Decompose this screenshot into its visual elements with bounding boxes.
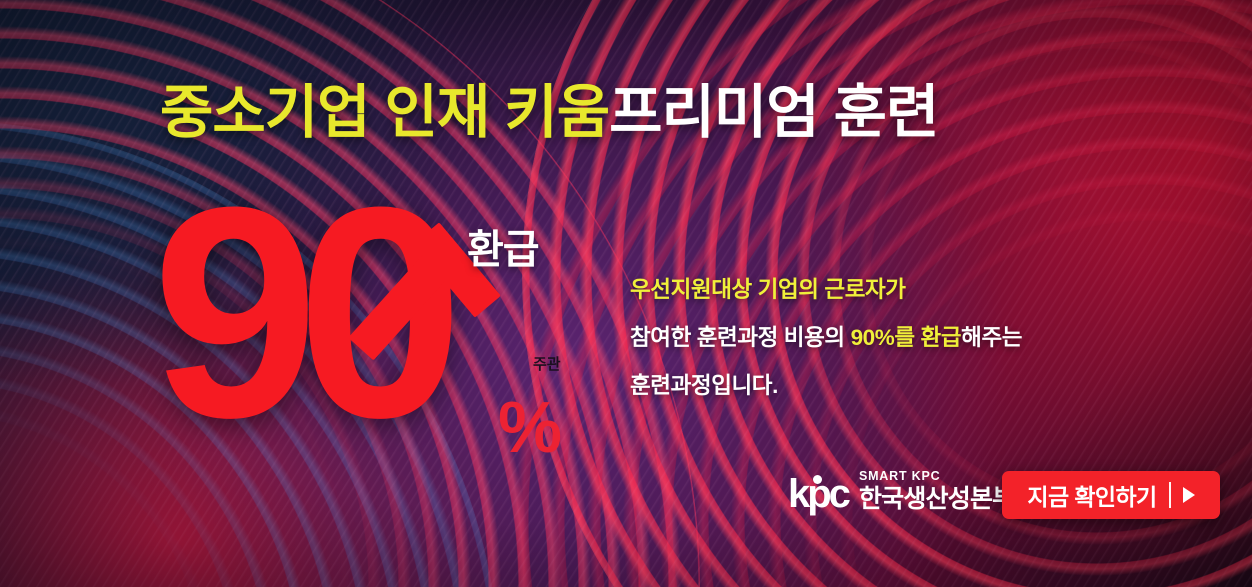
body-line-2: 참여한 훈련과정 비용의 90%를 환급해주는 — [630, 314, 1022, 362]
kpc-logo-text: SMART KPC 한국생산성본부 — [859, 470, 1014, 512]
body-line-1-text: 우선지원대상 기업의 근로자가 — [630, 277, 906, 302]
kpc-wordmark-icon: kpc — [788, 476, 848, 512]
body-line-2-pre: 참여한 훈련과정 비용의 — [630, 325, 851, 350]
body-line-2-accent: 90%를 환급 — [851, 325, 962, 350]
banner-content: 중소기업 인재 키움프리미엄 훈련 90 환급 주관 % 우선지원대상 기업의 … — [0, 0, 1252, 587]
kpc-org-name: 한국생산성본부 — [859, 486, 1014, 512]
play-arrow-icon — [1183, 487, 1195, 503]
body-line-1: 우선지원대상 기업의 근로자가 — [630, 266, 1022, 314]
headline-highlight: 중소기업 인재 키움 — [160, 80, 609, 145]
body-copy: 우선지원대상 기업의 근로자가 참여한 훈련과정 비용의 90%를 환급해주는 … — [630, 266, 1022, 410]
headline-rest: 프리미엄 훈련 — [609, 80, 938, 145]
kpc-logo: kpc SMART KPC 한국생산성본부 — [788, 470, 1014, 512]
body-line-3: 훈련과정입니다. — [630, 362, 1022, 410]
refund-label: 환급 — [467, 217, 539, 275]
cta-divider — [1169, 482, 1171, 508]
host-label: 주관 — [533, 353, 561, 374]
percent-sign: % — [498, 392, 562, 464]
body-line-3-text: 훈련과정입니다. — [630, 373, 778, 398]
cta-button[interactable]: 지금 확인하기 — [1002, 471, 1220, 519]
headline: 중소기업 인재 키움프리미엄 훈련 — [160, 84, 938, 142]
cta-label: 지금 확인하기 — [1027, 478, 1156, 512]
promo-banner: 중소기업 인재 키움프리미엄 훈련 90 환급 주관 % 우선지원대상 기업의 … — [0, 0, 1252, 587]
body-line-2-post: 해주는 — [961, 325, 1022, 350]
kpc-tagline: SMART KPC — [859, 470, 1014, 483]
